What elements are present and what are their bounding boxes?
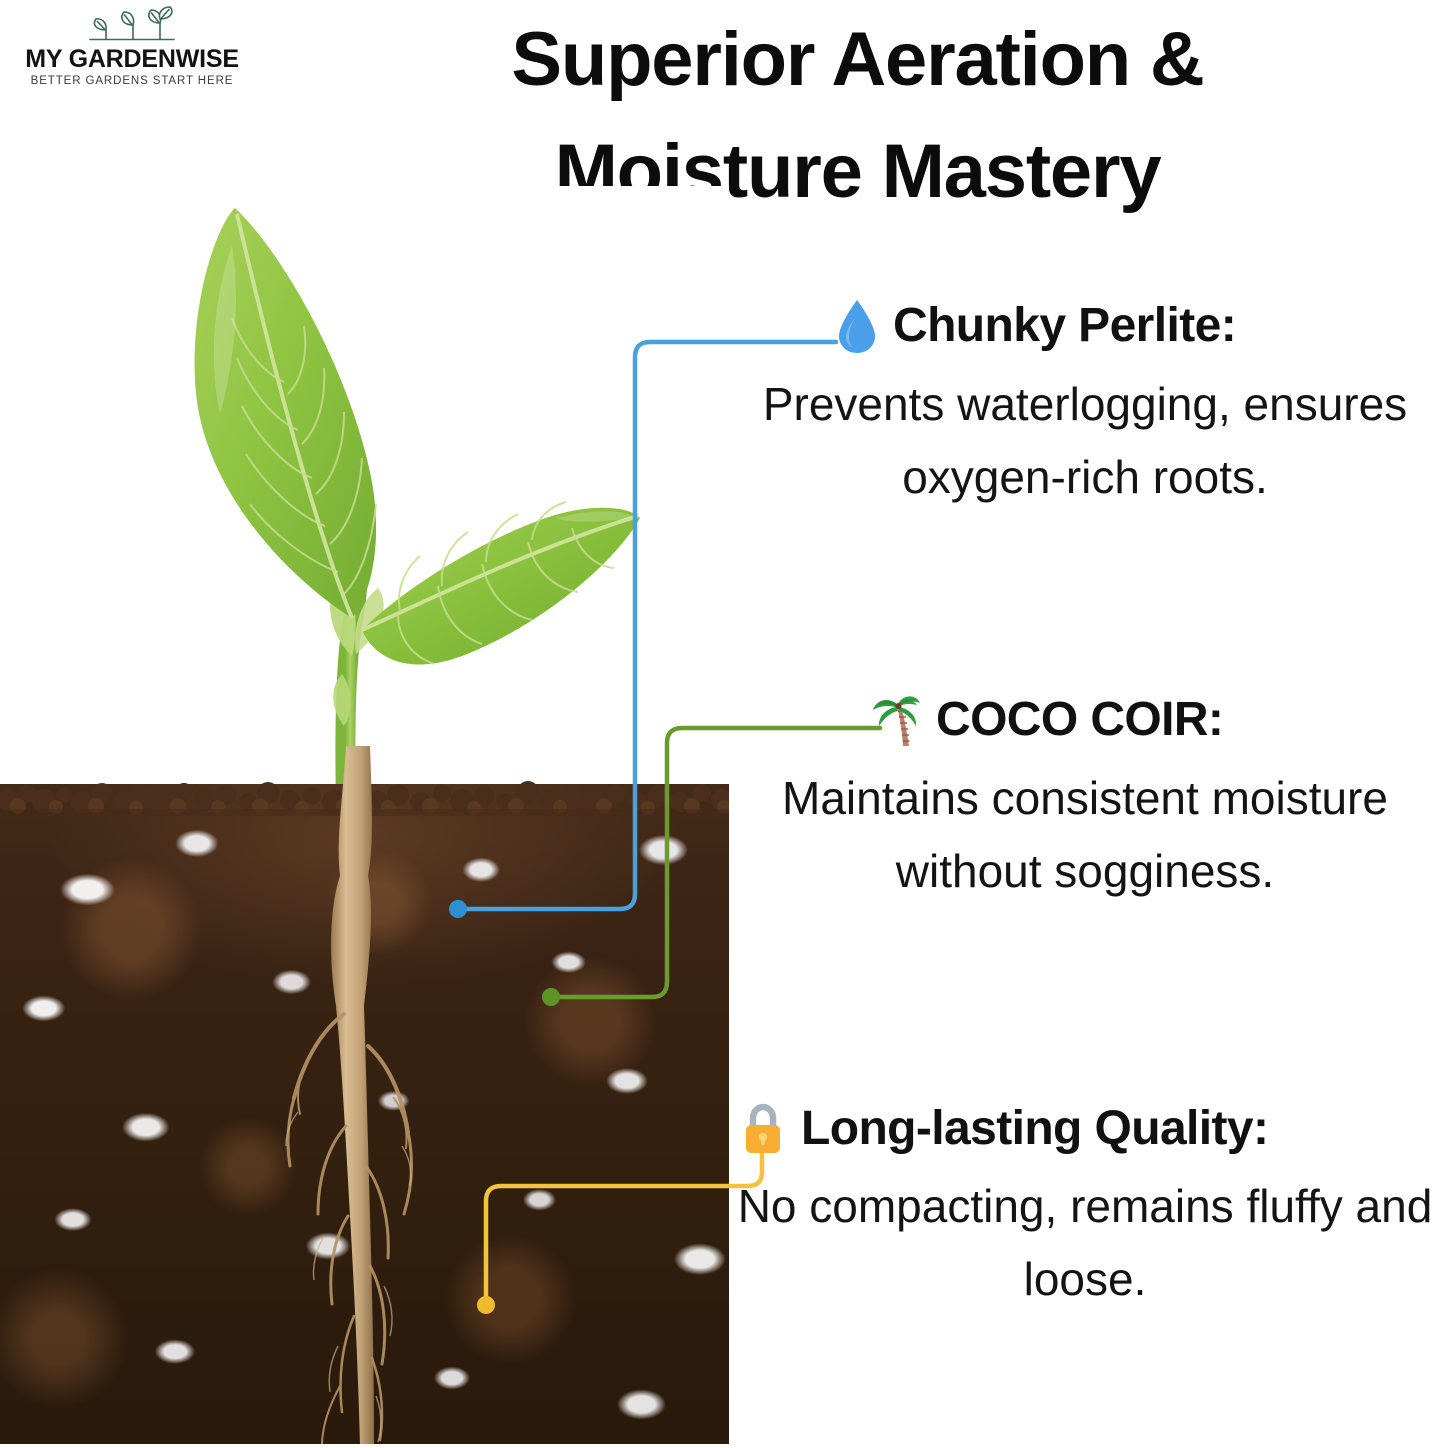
callout-title-coir: COCO COIR: xyxy=(936,694,1223,747)
callout-chunky-perlite: Chunky Perlite: Prevents waterlogging, e… xyxy=(725,298,1445,513)
page-title-line-1: Superior Aeration & xyxy=(270,4,1445,116)
callout-body-perlite: Prevents waterlogging, ensures oxygen-ri… xyxy=(725,368,1445,513)
palm-tree-icon xyxy=(870,692,922,748)
callout-body-quality: No compacting, remains fluffy and loose. xyxy=(725,1170,1445,1315)
brand-tagline: BETTER GARDENS START HERE xyxy=(14,75,250,87)
water-droplet-icon xyxy=(835,298,879,354)
callout-heading-row: COCO COIR: xyxy=(725,692,1445,748)
callout-heading-row: Chunky Perlite: xyxy=(725,298,1445,354)
seedling-soil-photo xyxy=(0,186,729,1444)
callout-body-coir: Maintains consistent moisture without so… xyxy=(725,762,1445,907)
callout-title-perlite: Chunky Perlite: xyxy=(893,300,1236,353)
callout-long-lasting-quality: Long-lasting Quality: No compacting, rem… xyxy=(725,1100,1445,1315)
callout-title-quality: Long-lasting Quality: xyxy=(801,1103,1268,1156)
taproot-and-roots xyxy=(284,746,454,1444)
padlock-icon xyxy=(739,1100,787,1158)
brand-name: MY GARDENWISE xyxy=(14,46,250,72)
brand-logo: MY GARDENWISE BETTER GARDENS START HERE xyxy=(14,6,250,87)
callout-coco-coir: COCO COIR: Maintains consistent moisture… xyxy=(725,692,1445,907)
callout-heading-row: Long-lasting Quality: xyxy=(725,1100,1445,1158)
three-sprouts-icon xyxy=(14,6,250,46)
seedling-plant xyxy=(0,186,729,826)
